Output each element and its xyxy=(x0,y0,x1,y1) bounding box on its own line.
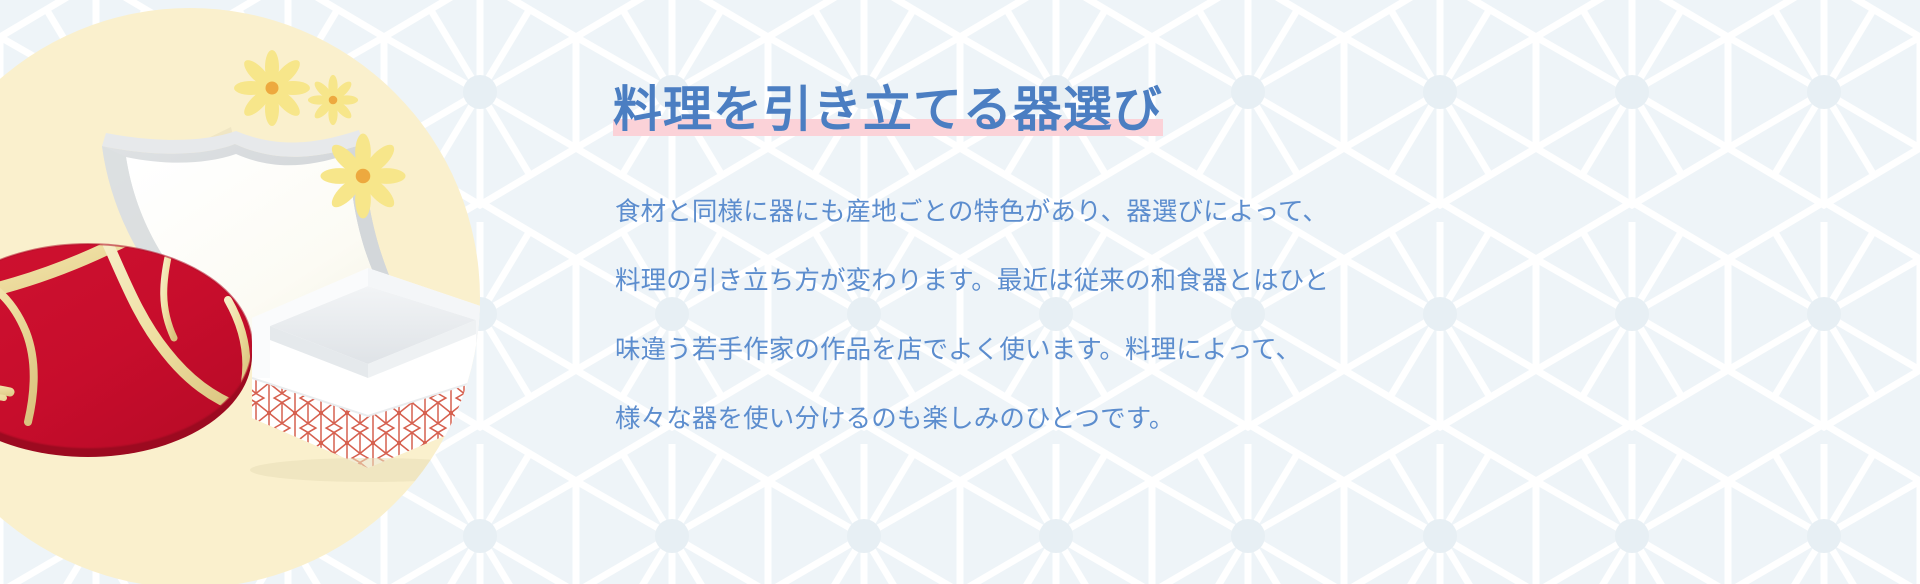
text-column: 料理を引き立てる器選び 食材と同様に器にも産地ごとの特色があり、器選びによって、… xyxy=(613,0,1613,584)
body-line-1: 食材と同様に器にも産地ごとの特色があり、器選びによって、 xyxy=(615,178,1455,247)
tableware-illustration xyxy=(0,0,540,584)
body-line-2: 料理の引き立ち方が変わります。最近は従来の和食器とはひと xyxy=(615,247,1455,316)
body-line-3: 味違う若手作家の作品を店でよく使います。料理によって、 xyxy=(615,316,1455,385)
body-paragraph: 食材と同様に器にも産地ごとの特色があり、器選びによって、 料理の引き立ち方が変わ… xyxy=(615,178,1455,454)
body-line-4: 様々な器を使い分けるのも楽しみのひとつです。 xyxy=(615,385,1455,454)
page-title-wrapper: 料理を引き立てる器選び xyxy=(613,82,1163,140)
page-title: 料理を引き立てる器選び xyxy=(613,82,1163,140)
hero-section: 料理を引き立てる器選び 食材と同様に器にも産地ごとの特色があり、器選びによって、… xyxy=(0,0,1920,584)
